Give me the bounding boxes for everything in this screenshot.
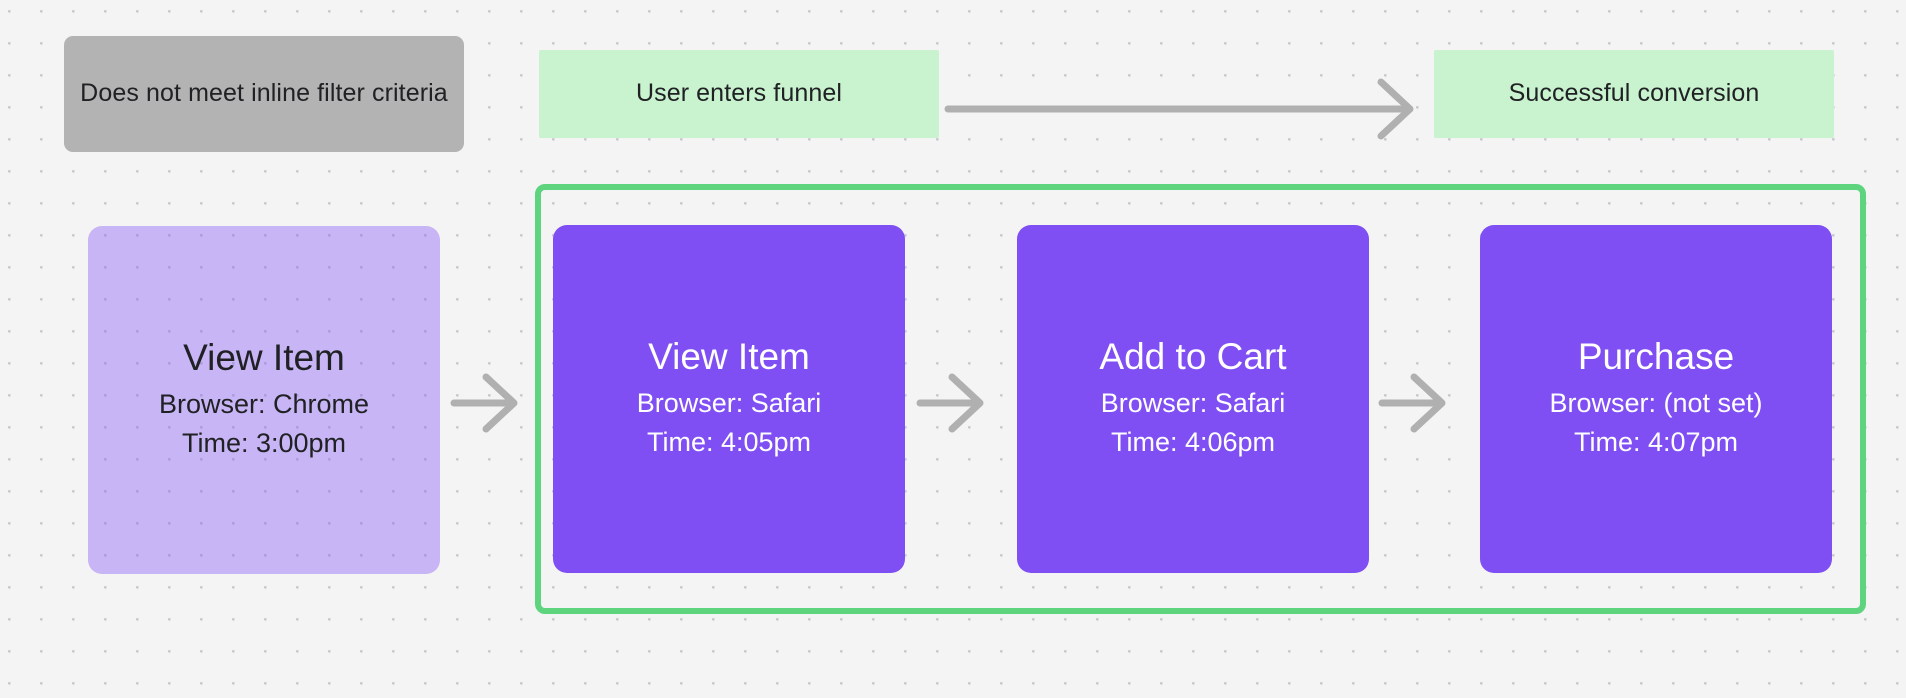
event-card-purchase[interactable]: Purchase Browser: (not set) Time: 4:07pm — [1480, 225, 1832, 573]
event-card-browser: Browser: Safari — [637, 384, 822, 423]
arrow-right-icon-step-3 — [1378, 370, 1458, 436]
event-card-time: Time: 4:07pm — [1574, 423, 1738, 462]
event-card-browser: Browser: (not set) — [1549, 384, 1762, 423]
arrow-right-icon-step-1 — [450, 370, 530, 436]
legend-chip-enters-funnel: User enters funnel — [539, 50, 939, 138]
legend-chip-enters-funnel-label: User enters funnel — [636, 77, 842, 111]
event-card-time: Time: 3:00pm — [182, 424, 346, 463]
event-card-add-to-cart[interactable]: Add to Cart Browser: Safari Time: 4:06pm — [1017, 225, 1369, 573]
event-card-excluded[interactable]: View Item Browser: Chrome Time: 3:00pm — [88, 226, 440, 574]
diagram-canvas: Does not meet inline filter criteria Use… — [0, 0, 1906, 698]
arrow-right-icon-step-2 — [916, 370, 996, 436]
event-card-title: View Item — [183, 337, 345, 378]
event-card-view-item[interactable]: View Item Browser: Safari Time: 4:05pm — [553, 225, 905, 573]
event-card-title: View Item — [648, 336, 810, 377]
legend-chip-successful-conversion: Successful conversion — [1434, 50, 1834, 138]
event-card-time: Time: 4:05pm — [647, 423, 811, 462]
arrow-right-icon-legend — [944, 76, 1429, 142]
event-card-title: Add to Cart — [1099, 336, 1286, 377]
event-card-time: Time: 4:06pm — [1111, 423, 1275, 462]
legend-chip-excluded: Does not meet inline filter criteria — [64, 36, 464, 152]
event-card-browser: Browser: Chrome — [159, 385, 369, 424]
event-card-title: Purchase — [1578, 336, 1734, 377]
legend-chip-successful-conversion-label: Successful conversion — [1509, 77, 1760, 111]
legend-chip-excluded-label: Does not meet inline filter criteria — [80, 77, 448, 111]
event-card-browser: Browser: Safari — [1101, 384, 1286, 423]
